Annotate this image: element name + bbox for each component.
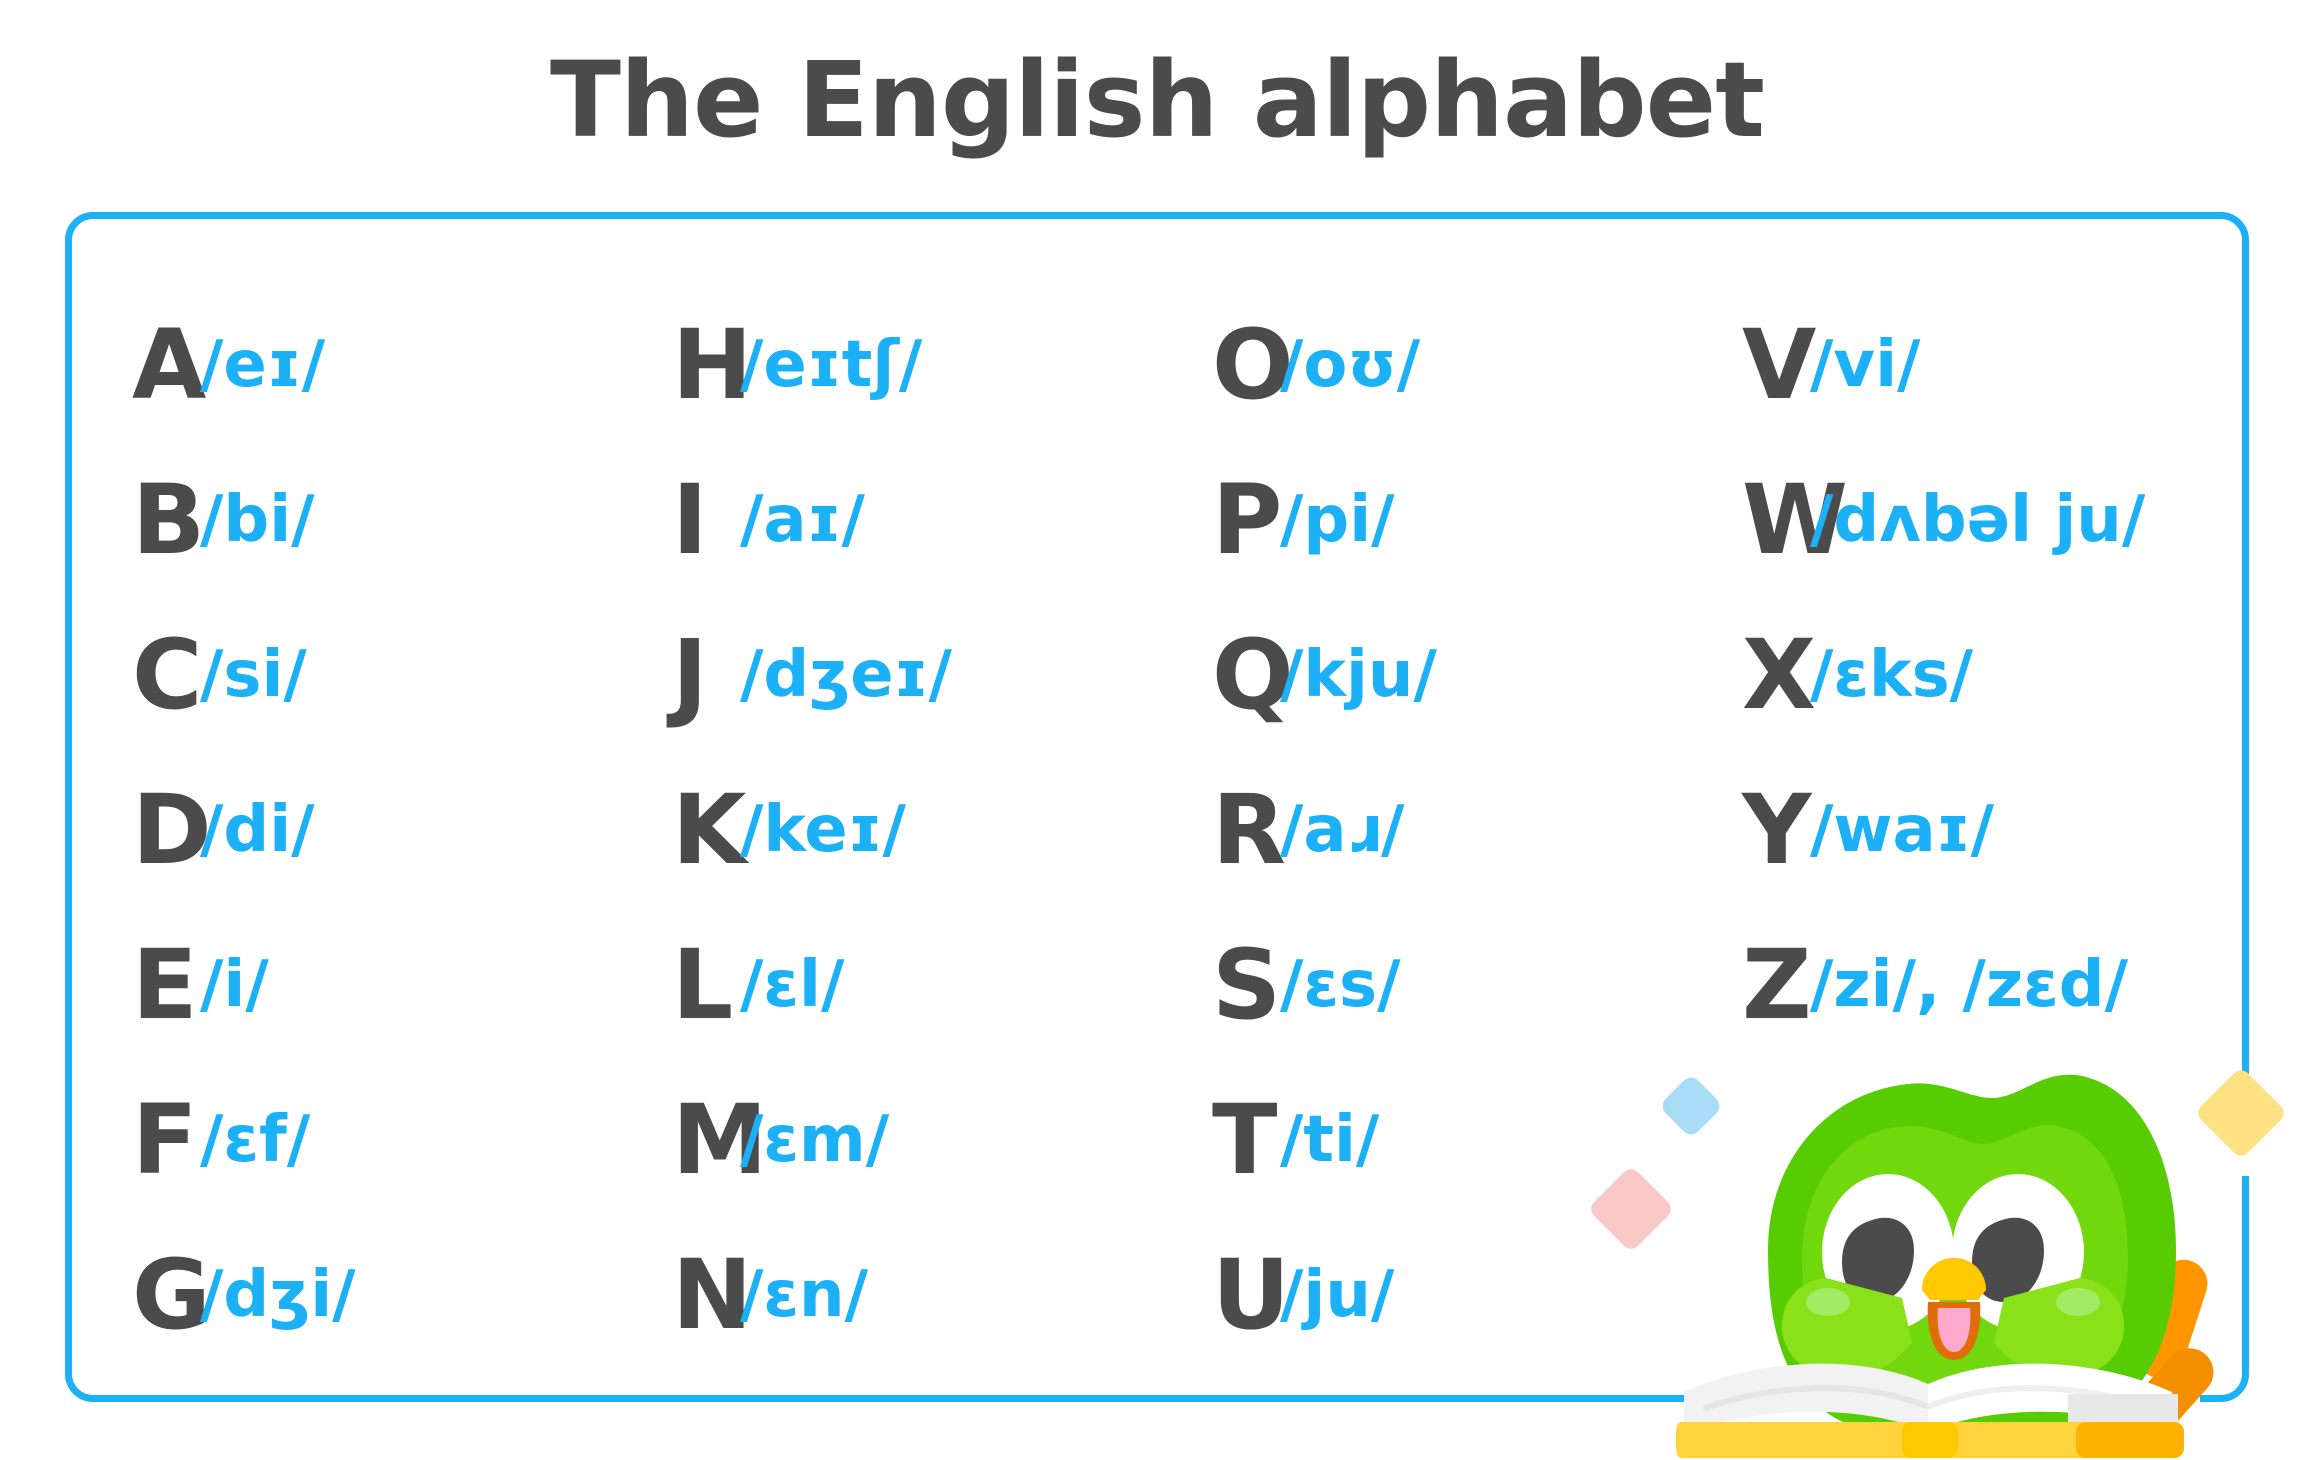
alphabet-entry: I /aɪ/: [612, 442, 1152, 597]
alphabet-entry: J /dʒeɪ/: [612, 597, 1152, 752]
ipa-transcription: /keɪ/: [730, 798, 906, 862]
ipa-transcription: /dʒi/: [190, 1263, 356, 1327]
letter-glyph: R: [1152, 782, 1270, 878]
ipa-transcription: /ɛl/: [730, 953, 844, 1017]
letter-glyph: L: [612, 937, 730, 1033]
alphabet-entry: G /dʒi/: [72, 1217, 612, 1372]
letter-glyph: P: [1152, 472, 1270, 568]
alphabet-entry: E /i/: [72, 907, 612, 1062]
alphabet-entry: A /eɪ/: [72, 287, 612, 442]
letter-glyph: A: [72, 317, 190, 413]
letter-glyph: G: [72, 1247, 190, 1343]
alphabet-entry: M /ɛm/: [612, 1062, 1152, 1217]
ipa-transcription: /dʒeɪ/: [730, 643, 952, 707]
letter-glyph: O: [1152, 317, 1270, 413]
letter-glyph: D: [72, 782, 190, 878]
alphabet-entry: V /vi/: [1682, 287, 2256, 442]
alphabet-entry: S /ɛs/: [1152, 907, 1682, 1062]
alphabet-entry: Q /kju/: [1152, 597, 1682, 752]
alphabet-entry: Y /waɪ/: [1682, 752, 2256, 907]
ipa-transcription: /vi/: [1800, 333, 1920, 397]
letter-glyph: V: [1682, 317, 1800, 413]
letter-glyph: I: [612, 472, 730, 568]
ipa-transcription: /aɪ/: [730, 488, 865, 552]
ipa-transcription: /ɛf/: [190, 1108, 310, 1172]
ipa-transcription: /si/: [190, 643, 307, 707]
ipa-transcription: /zi/, /zɛd/: [1800, 953, 2128, 1017]
ipa-transcription: /kju/: [1270, 643, 1437, 707]
ipa-transcription: /bi/: [190, 488, 315, 552]
ipa-transcription: /i/: [190, 953, 269, 1017]
letter-glyph: U: [1152, 1247, 1270, 1343]
alphabet-entry: O /oʊ/: [1152, 287, 1682, 442]
letter-glyph: K: [612, 782, 730, 878]
alphabet-entry: X /ɛks/: [1682, 597, 2256, 752]
letter-glyph: Y: [1682, 782, 1800, 878]
alphabet-entry: U /ju/: [1152, 1217, 1682, 1372]
letter-glyph: S: [1152, 937, 1270, 1033]
letter-glyph: C: [72, 627, 190, 723]
ipa-transcription: /ɛn/: [730, 1263, 868, 1327]
alphabet-entry: C /si/: [72, 597, 612, 752]
ipa-transcription: /ti/: [1270, 1108, 1379, 1172]
letter-glyph: F: [72, 1092, 190, 1188]
letter-glyph: Z: [1682, 937, 1800, 1033]
ipa-transcription: /eɪtʃ/: [730, 333, 922, 397]
letter-glyph: M: [612, 1092, 730, 1188]
letter-glyph: T: [1152, 1092, 1270, 1188]
alphabet-entry: P /pi/: [1152, 442, 1682, 597]
letter-glyph: H: [612, 317, 730, 413]
ipa-transcription: /waɪ/: [1800, 798, 1994, 862]
alphabet-entry: R /aɹ/: [1152, 752, 1682, 907]
duo-owl-icon: [1676, 1040, 2296, 1458]
alphabet-entry: B /bi/: [72, 442, 612, 597]
ipa-transcription: /ɛks/: [1800, 643, 1973, 707]
ipa-transcription: /pi/: [1270, 488, 1395, 552]
letter-glyph: J: [612, 627, 730, 723]
ipa-transcription: /ɛs/: [1270, 953, 1400, 1017]
ipa-transcription: /dʌbəl ju/: [1800, 488, 2145, 552]
ipa-transcription: /ju/: [1270, 1263, 1394, 1327]
ipa-transcription: /di/: [190, 798, 315, 862]
ipa-transcription: /eɪ/: [190, 333, 325, 397]
letter-glyph: E: [72, 937, 190, 1033]
alphabet-entry: H /eɪtʃ/: [612, 287, 1152, 442]
ipa-transcription: /aɹ/: [1270, 798, 1404, 862]
letter-glyph: W: [1682, 472, 1800, 568]
page-title: The English alphabet: [0, 38, 2314, 163]
alphabet-entry: N /ɛn/: [612, 1217, 1152, 1372]
letter-glyph: Q: [1152, 627, 1270, 723]
alphabet-entry: W /dʌbəl ju/: [1682, 442, 2256, 597]
alphabet-entry: F /ɛf/: [72, 1062, 612, 1217]
alphabet-entry: L /ɛl/: [612, 907, 1152, 1062]
letter-glyph: X: [1682, 627, 1800, 723]
alphabet-entry: K /keɪ/: [612, 752, 1152, 907]
alphabet-entry: D /di/: [72, 752, 612, 907]
ipa-transcription: /oʊ/: [1270, 333, 1420, 397]
alphabet-entry: Z /zi/, /zɛd/: [1682, 907, 2256, 1062]
ipa-transcription: /ɛm/: [730, 1108, 889, 1172]
letter-glyph: B: [72, 472, 190, 568]
letter-glyph: N: [612, 1247, 730, 1343]
